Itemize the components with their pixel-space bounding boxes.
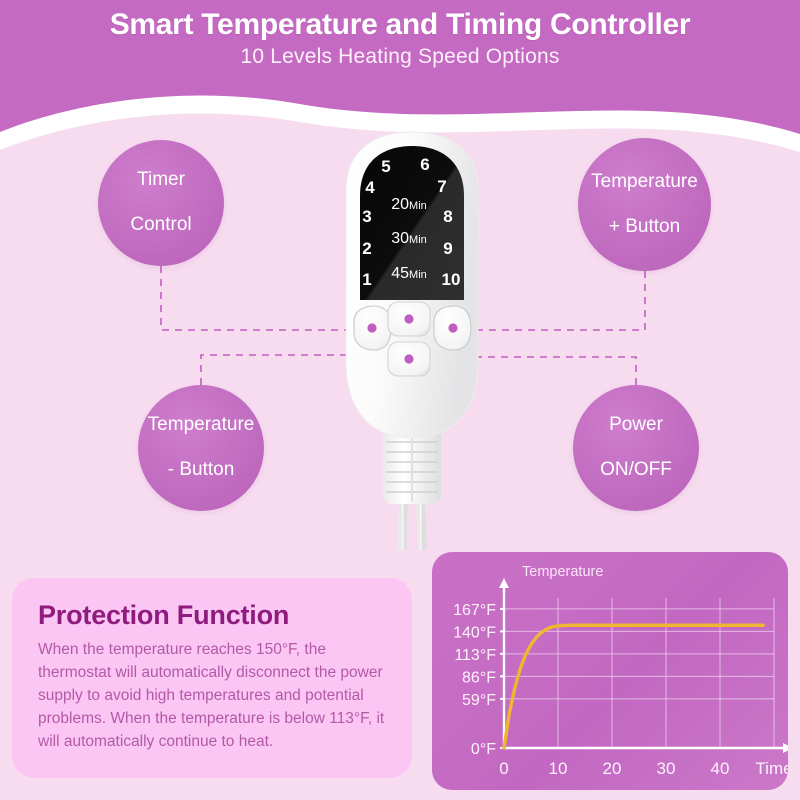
level-5[interactable]: 5: [381, 157, 390, 176]
y-tick-label: 140°F: [453, 624, 496, 641]
page-subtitle: 10 Levels Heating Speed Options: [0, 45, 800, 69]
x-tick-label: Time: [755, 759, 788, 778]
chart-title: Temperature: [522, 564, 603, 580]
callout-timer-line2: Control: [124, 214, 197, 236]
x-tick-label: 40: [711, 759, 730, 778]
x-tick-label: 10: [549, 759, 568, 778]
level-2[interactable]: 2: [362, 239, 371, 258]
level-10[interactable]: 10: [442, 270, 461, 289]
controller-graphic: 5 6 4 7 3 8 2 9 1 10 20Min 30Min 45Min: [330, 130, 495, 550]
level-7[interactable]: 7: [437, 177, 446, 196]
protection-body: When the temperature reaches 150°F, the …: [38, 639, 388, 754]
callout-temp-plus-line2: + Button: [585, 216, 704, 238]
callout-temp-plus-line1: Temperature: [585, 171, 704, 193]
clock-icon: [367, 323, 376, 332]
plus-icon: [404, 314, 413, 323]
infographic-canvas: Smart Temperature and Timing Controller …: [0, 0, 800, 800]
y-tick-label: 0°F: [471, 741, 496, 758]
page-title: Smart Temperature and Timing Controller: [0, 8, 800, 41]
handheld-controller: 5 6 4 7 3 8 2 9 1 10 20Min 30Min 45Min: [330, 130, 495, 550]
callout-power-line1: Power: [594, 414, 678, 436]
y-tick-label: 167°F: [453, 602, 496, 619]
connector-timer: [161, 266, 349, 330]
minus-icon: [448, 323, 457, 332]
protection-heading: Protection Function: [38, 600, 388, 631]
callout-power-line2: ON/OFF: [594, 459, 678, 481]
temperature-time-chart: Temperature0°F59°F86°F113°F140°F167°F010…: [432, 552, 788, 790]
level-9[interactable]: 9: [443, 239, 452, 258]
callout-temperature-minus[interactable]: Temperature - Button: [138, 385, 264, 511]
x-tick-label: 0: [499, 759, 508, 778]
callout-temp-minus-line1: Temperature: [142, 414, 261, 436]
callout-temp-minus-line2: - Button: [142, 459, 261, 481]
level-4[interactable]: 4: [365, 178, 375, 197]
chart-curve: [504, 625, 763, 748]
y-tick-label: 113°F: [454, 647, 496, 664]
level-3[interactable]: 3: [362, 207, 371, 226]
power-icon: [404, 354, 413, 363]
level-8[interactable]: 8: [443, 207, 452, 226]
protection-function-panel: Protection Function When the temperature…: [12, 578, 412, 778]
y-axis-arrow: [499, 578, 509, 588]
x-axis-arrow: [783, 743, 788, 753]
callout-timer-line1: Timer: [124, 169, 197, 191]
level-6[interactable]: 6: [420, 155, 429, 174]
callout-temperature-plus[interactable]: Temperature + Button: [578, 138, 711, 271]
temperature-chart-card: Temperature0°F59°F86°F113°F140°F167°F010…: [432, 552, 788, 790]
x-tick-label: 20: [603, 759, 622, 778]
level-1[interactable]: 1: [362, 270, 371, 289]
y-tick-label: 59°F: [462, 692, 496, 709]
x-tick-label: 30: [657, 759, 676, 778]
y-tick-label: 86°F: [462, 669, 496, 686]
callout-timer-control[interactable]: Timer Control: [98, 140, 224, 266]
callout-power-on-off[interactable]: Power ON/OFF: [573, 385, 699, 511]
